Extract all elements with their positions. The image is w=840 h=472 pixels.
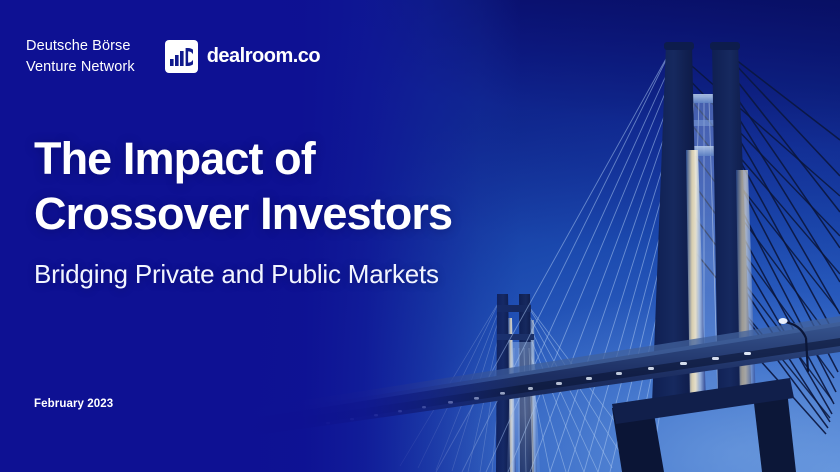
dealroom-wordmark: dealroom.co (207, 45, 320, 68)
slide-content: Deutsche Börse Venture Network dealroom.… (0, 0, 840, 472)
deutsche-boerse-venture-network-logo: Deutsche Börse Venture Network (26, 36, 135, 77)
logo-row: Deutsche Börse Venture Network dealroom.… (26, 36, 320, 77)
dealroom-logo: dealroom.co (165, 40, 320, 73)
title-slide: Deutsche Börse Venture Network dealroom.… (0, 0, 840, 472)
date-label: February 2023 (34, 398, 113, 410)
page-subtitle: Bridging Private and Public Markets (34, 258, 439, 292)
bar-chart-d-icon (165, 40, 198, 73)
page-title: The Impact of Crossover Investors (34, 132, 452, 242)
